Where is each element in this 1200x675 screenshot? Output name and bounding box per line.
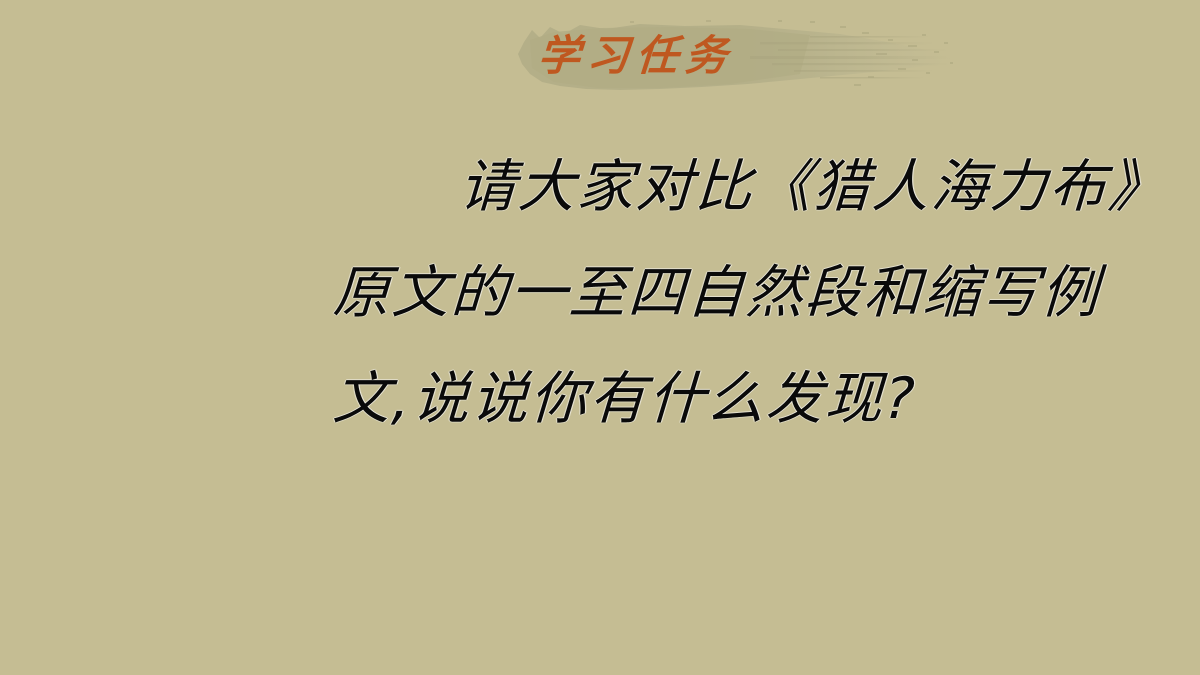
task-text-block: 请大家对比《猎人海力布》 原文的一至四自然段和缩写例 文,说说你有什么发现?: [333, 134, 1163, 452]
task-text-line-1: 请大家对比《猎人海力布》: [330, 134, 1166, 240]
task-text-line-3: 文,说说你有什么发现?: [330, 346, 1166, 452]
page-title: 学习任务: [535, 20, 840, 92]
slide-canvas: 学习任务 请大家对比《猎人海力布》 原文的一至四自然段和缩写例 文,说说你有什么…: [0, 0, 1200, 675]
title-banner: 学习任务: [510, 12, 960, 104]
task-text-line-2: 原文的一至四自然段和缩写例: [330, 240, 1166, 346]
